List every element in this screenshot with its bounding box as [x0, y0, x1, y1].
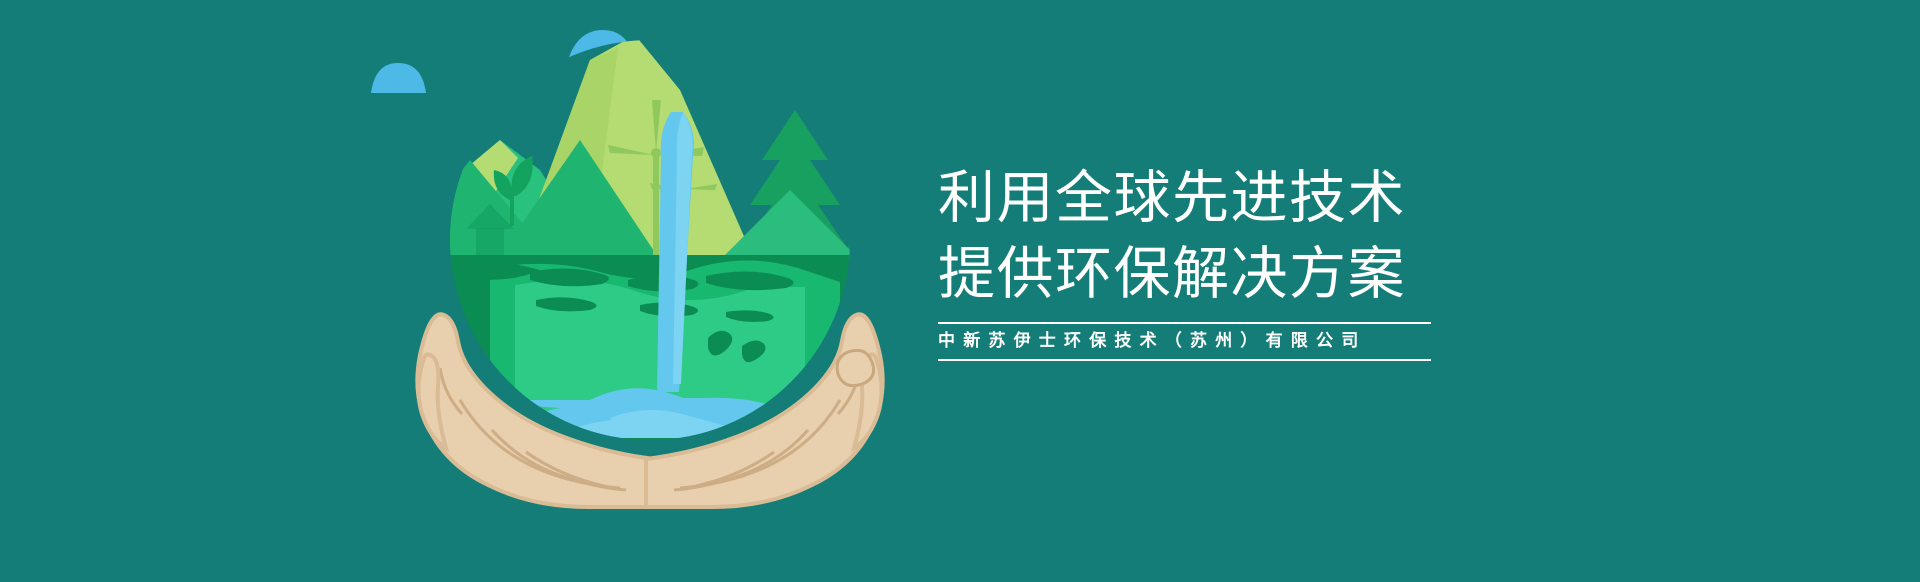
hero-banner: 利用全球先进技术 提供环保解决方案 中新苏伊士环保技术（苏州）有限公司: [0, 0, 1920, 582]
pine-tree-small-icon: [840, 175, 918, 258]
company-name-rule: 中新苏伊士环保技术（苏州）有限公司: [938, 322, 1431, 361]
cloud-small-icon: [371, 63, 426, 93]
illustration-svg: [340, 0, 960, 582]
company-name: 中新苏伊士环保技术（苏州）有限公司: [938, 331, 1431, 351]
globe-in-hands-illustration: [340, 0, 960, 582]
headline-line-1: 利用全球先进技术: [938, 160, 1558, 236]
headline-line-2: 提供环保解决方案: [938, 236, 1558, 312]
hero-text-block: 利用全球先进技术 提供环保解决方案 中新苏伊士环保技术（苏州）有限公司: [938, 160, 1558, 361]
solar-panel-icon: [388, 182, 436, 254]
